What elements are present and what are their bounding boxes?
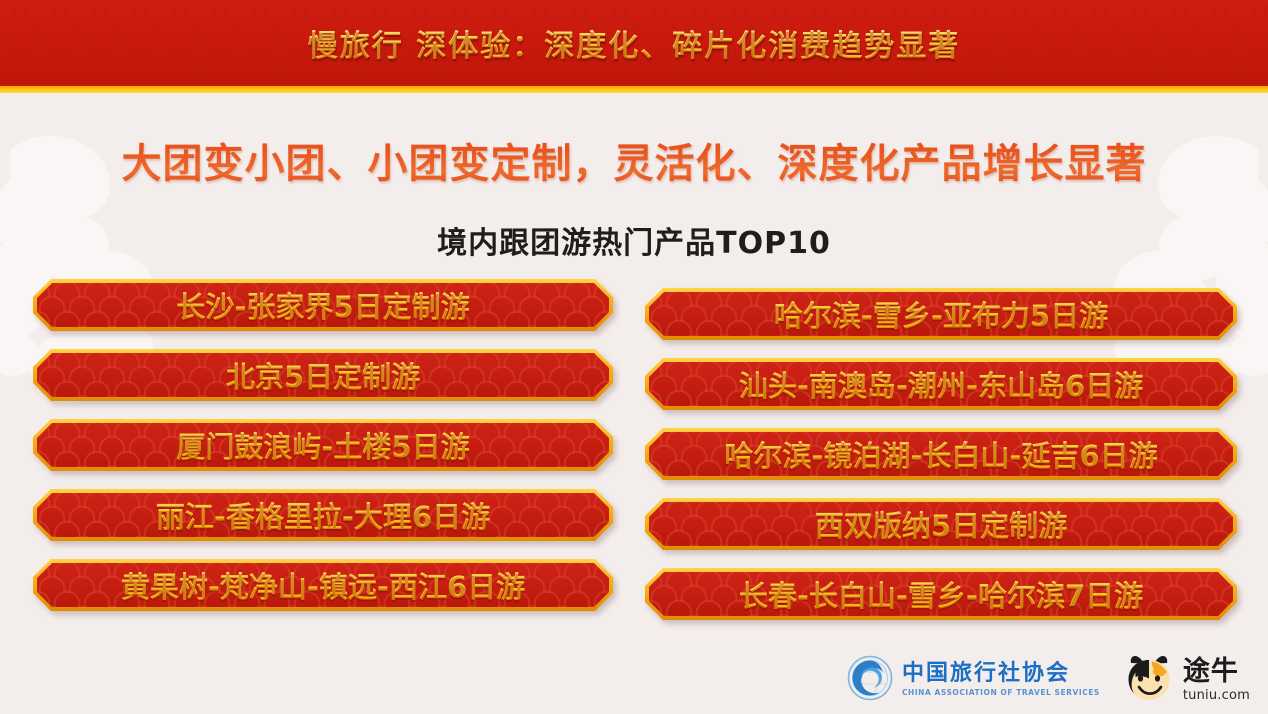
subtitle-container: 境内跟团游热门产品TOP10 <box>0 218 1268 262</box>
list-item-label: 哈尔滨-镜泊湖-长白山-延吉6日游 <box>724 433 1157 475</box>
header-bar: 慢旅行 深体验：深度化、碎片化消费趋势显著 <box>0 0 1268 86</box>
footer-logos: 中国旅行社协会 CHINA ASSOCIATION OF TRAVEL SERV… <box>847 654 1250 706</box>
cats-name-cn: 中国旅行社协会 <box>902 663 1100 685</box>
cats-logo: 中国旅行社协会 CHINA ASSOCIATION OF TRAVEL SERV… <box>847 655 1100 705</box>
list-item[interactable]: 哈尔滨-雪乡-亚布力5日游 <box>645 288 1237 340</box>
cow-icon <box>1122 654 1176 706</box>
globe-icon <box>847 655 893 705</box>
list-item-label: 长春-长白山-雪乡-哈尔滨7日游 <box>739 573 1143 615</box>
list-item-label: 哈尔滨-雪乡-亚布力5日游 <box>774 293 1108 335</box>
tuniu-logo: 途牛 tuniu.com <box>1122 654 1250 706</box>
section-subtitle: 境内跟团游热门产品TOP10 <box>437 226 831 261</box>
tuniu-name-cn: 途牛 <box>1183 658 1250 685</box>
headline-container: 大团变小团、小团变定制，灵活化、深度化产品增长显著 <box>0 131 1268 189</box>
list-item[interactable]: 丽江-香格里拉-大理6日游 <box>33 489 613 541</box>
list-item[interactable]: 西双版纳5日定制游 <box>645 498 1237 550</box>
list-item[interactable]: 北京5日定制游 <box>33 349 613 401</box>
list-item-label: 汕头-南澳岛-潮州-东山岛6日游 <box>739 363 1143 405</box>
list-item-label: 黄果树-梵净山-镇远-西江6日游 <box>121 564 525 606</box>
list-item[interactable]: 长春-长白山-雪乡-哈尔滨7日游 <box>645 568 1237 620</box>
list-item-label: 长沙-张家界5日定制游 <box>176 284 469 326</box>
list-item[interactable]: 长沙-张家界5日定制游 <box>33 279 613 331</box>
cats-text: 中国旅行社协会 CHINA ASSOCIATION OF TRAVEL SERV… <box>902 663 1100 697</box>
page-title: 大团变小团、小团变定制，灵活化、深度化产品增长显著 <box>122 131 1147 189</box>
list-item-label: 西双版纳5日定制游 <box>815 503 1067 545</box>
list-item-label: 丽江-香格里拉-大理6日游 <box>156 494 490 536</box>
header-title: 慢旅行 深体验：深度化、碎片化消费趋势显著 <box>308 21 960 65</box>
list-item[interactable]: 汕头-南澳岛-潮州-东山岛6日游 <box>645 358 1237 410</box>
tuniu-name-en: tuniu.com <box>1183 689 1250 702</box>
product-list-left: 长沙-张家界5日定制游 北京5日定制游 厦门鼓浪屿-土楼5日游 丽江-香格里拉-… <box>33 279 613 629</box>
tuniu-text: 途牛 tuniu.com <box>1183 658 1250 702</box>
header-gold-divider <box>0 86 1268 93</box>
list-item[interactable]: 黄果树-梵净山-镇远-西江6日游 <box>33 559 613 611</box>
product-list-right: 哈尔滨-雪乡-亚布力5日游 汕头-南澳岛-潮州-东山岛6日游 哈尔滨-镜泊湖-长… <box>645 279 1237 638</box>
list-item-label: 北京5日定制游 <box>226 354 420 396</box>
list-item[interactable]: 厦门鼓浪屿-土楼5日游 <box>33 419 613 471</box>
list-item-label: 厦门鼓浪屿-土楼5日游 <box>176 424 469 466</box>
list-item[interactable]: 哈尔滨-镜泊湖-长白山-延吉6日游 <box>645 428 1237 480</box>
product-lists: 长沙-张家界5日定制游 北京5日定制游 厦门鼓浪屿-土楼5日游 丽江-香格里拉-… <box>0 279 1268 634</box>
cats-name-en: CHINA ASSOCIATION OF TRAVEL SERVICES <box>902 689 1100 697</box>
